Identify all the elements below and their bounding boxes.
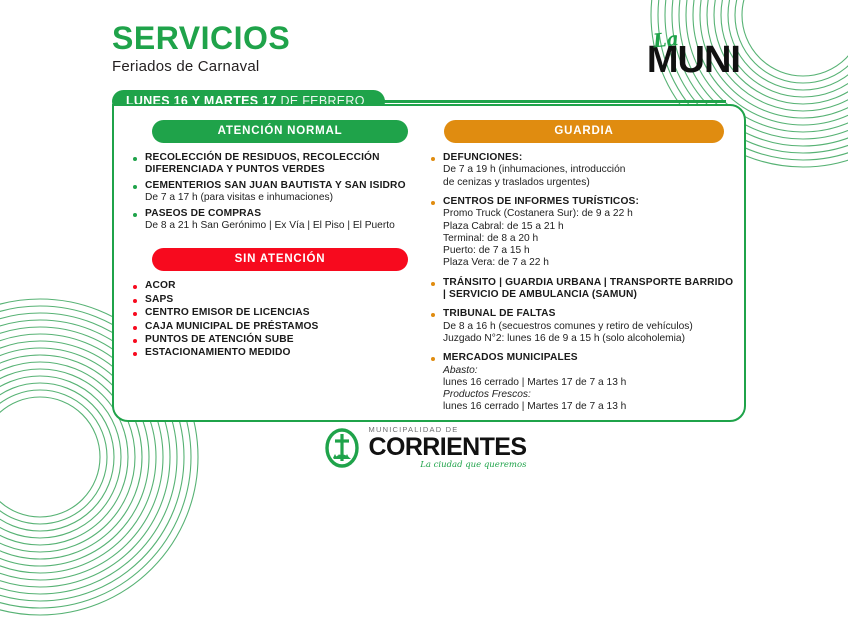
list-item: RECOLECCIÓN DE RESIDUOS, RECOLECCIÓN DIF…	[132, 152, 422, 177]
list-atencion-normal: RECOLECCIÓN DE RESIDUOS, RECOLECCIÓN DIF…	[132, 152, 422, 232]
corrientes-crest-icon	[322, 428, 362, 468]
item-detail-market-1-name: Abasto:	[443, 365, 734, 377]
list-item: ESTACIONAMIENTO MEDIDO	[132, 347, 422, 359]
item-title: DEFUNCIONES:	[443, 152, 734, 164]
item-title: TRIBUNAL DE FALTAS	[443, 308, 734, 320]
footer-logo: MUNICIPALIDAD DE CORRIENTES La ciudad qu…	[0, 426, 848, 469]
item-detail: Promo Truck (Costanera Sur): de 9 a 22 h…	[443, 208, 734, 269]
list-item: ACOR	[132, 280, 422, 292]
services-card: ATENCIÓN NORMAL RECOLECCIÓN DE RESIDUOS,…	[112, 104, 746, 422]
item-title: CEMENTERIOS SAN JUAN BAUTISTA Y SAN ISID…	[145, 180, 422, 192]
footer-corrientes: CORRIENTES	[369, 435, 527, 460]
list-item: PUNTOS DE ATENCIÓN SUBE	[132, 334, 422, 346]
page-title: SERVICIOS	[112, 22, 290, 56]
item-title: MERCADOS MUNICIPALES	[443, 352, 734, 364]
section-header-guardia: GUARDIA	[444, 120, 724, 143]
item-title: CENTRO EMISOR DE LICENCIAS	[145, 307, 422, 319]
item-detail-market-2-hours: lunes 16 cerrado | Martes 17 de 7 a 13 h	[443, 401, 734, 413]
footer-wordmark: MUNICIPALIDAD DE CORRIENTES La ciudad qu…	[369, 426, 527, 469]
list-item: CEMENTERIOS SAN JUAN BAUTISTA Y SAN ISID…	[132, 180, 422, 205]
item-title: PUNTOS DE ATENCIÓN SUBE	[145, 334, 422, 346]
item-title: CAJA MUNICIPAL DE PRÉSTAMOS	[145, 321, 422, 333]
column-right: GUARDIA DEFUNCIONES: De 7 a 19 h (inhuma…	[422, 120, 734, 410]
section-header-sin-atencion: SIN ATENCIÓN	[152, 248, 408, 271]
item-title: ESTACIONAMIENTO MEDIDO	[145, 347, 422, 359]
item-title: PASEOS DE COMPRAS	[145, 208, 422, 220]
page-subtitle: Feriados de Carnaval	[112, 58, 290, 75]
list-item: PASEOS DE COMPRAS De 8 a 21 h San Geróni…	[132, 208, 422, 233]
list-item: MERCADOS MUNICIPALES Abasto: lunes 16 ce…	[430, 352, 734, 413]
item-title: CENTROS DE INFORMES TURÍSTICOS:	[443, 196, 734, 208]
item-detail-market-1-hours: lunes 16 cerrado | Martes 17 de 7 a 13 h	[443, 377, 734, 389]
list-item: TRIBUNAL DE FALTAS De 8 a 16 h (secuestr…	[430, 308, 734, 345]
item-title: TRÁNSITO | GUARDIA URBANA | TRANSPORTE B…	[443, 277, 734, 302]
footer-slogan: La ciudad que queremos	[369, 461, 527, 470]
list-item: DEFUNCIONES: De 7 a 19 h (inhumaciones, …	[430, 152, 734, 189]
list-item: SAPS	[132, 294, 422, 306]
item-detail: De 8 a 21 h San Gerónimo | Ex Vía | El P…	[145, 220, 422, 232]
page-header: SERVICIOS Feriados de Carnaval	[112, 22, 290, 75]
list-item: CENTRO EMISOR DE LICENCIAS	[132, 307, 422, 319]
item-title: ACOR	[145, 280, 422, 292]
list-item: TRÁNSITO | GUARDIA URBANA | TRANSPORTE B…	[430, 277, 734, 302]
list-sin-atencion: ACOR SAPS CENTRO EMISOR DE LICENCIAS CAJ…	[132, 280, 422, 360]
item-title: SAPS	[145, 294, 422, 306]
section-sin-atencion: SIN ATENCIÓN ACOR SAPS CENTRO EMISOR DE …	[132, 248, 422, 360]
item-detail: De 7 a 19 h (inhumaciones, introducción …	[443, 164, 734, 188]
section-header-atencion-normal: ATENCIÓN NORMAL	[152, 120, 408, 143]
la-muni-logo: La MUNI	[647, 26, 740, 82]
item-title: RECOLECCIÓN DE RESIDUOS, RECOLECCIÓN DIF…	[145, 152, 422, 177]
item-detail-market-2-name: Productos Frescos:	[443, 389, 734, 401]
column-left: ATENCIÓN NORMAL RECOLECCIÓN DE RESIDUOS,…	[124, 120, 422, 410]
date-rule	[383, 100, 726, 103]
list-guardia: DEFUNCIONES: De 7 a 19 h (inhumaciones, …	[430, 152, 734, 414]
list-item: CENTROS DE INFORMES TURÍSTICOS: Promo Tr…	[430, 196, 734, 270]
item-detail: De 8 a 16 h (secuestros comunes y retiro…	[443, 321, 734, 345]
item-detail: De 7 a 17 h (para visitas e inhumaciones…	[145, 192, 422, 204]
list-item: CAJA MUNICIPAL DE PRÉSTAMOS	[132, 321, 422, 333]
